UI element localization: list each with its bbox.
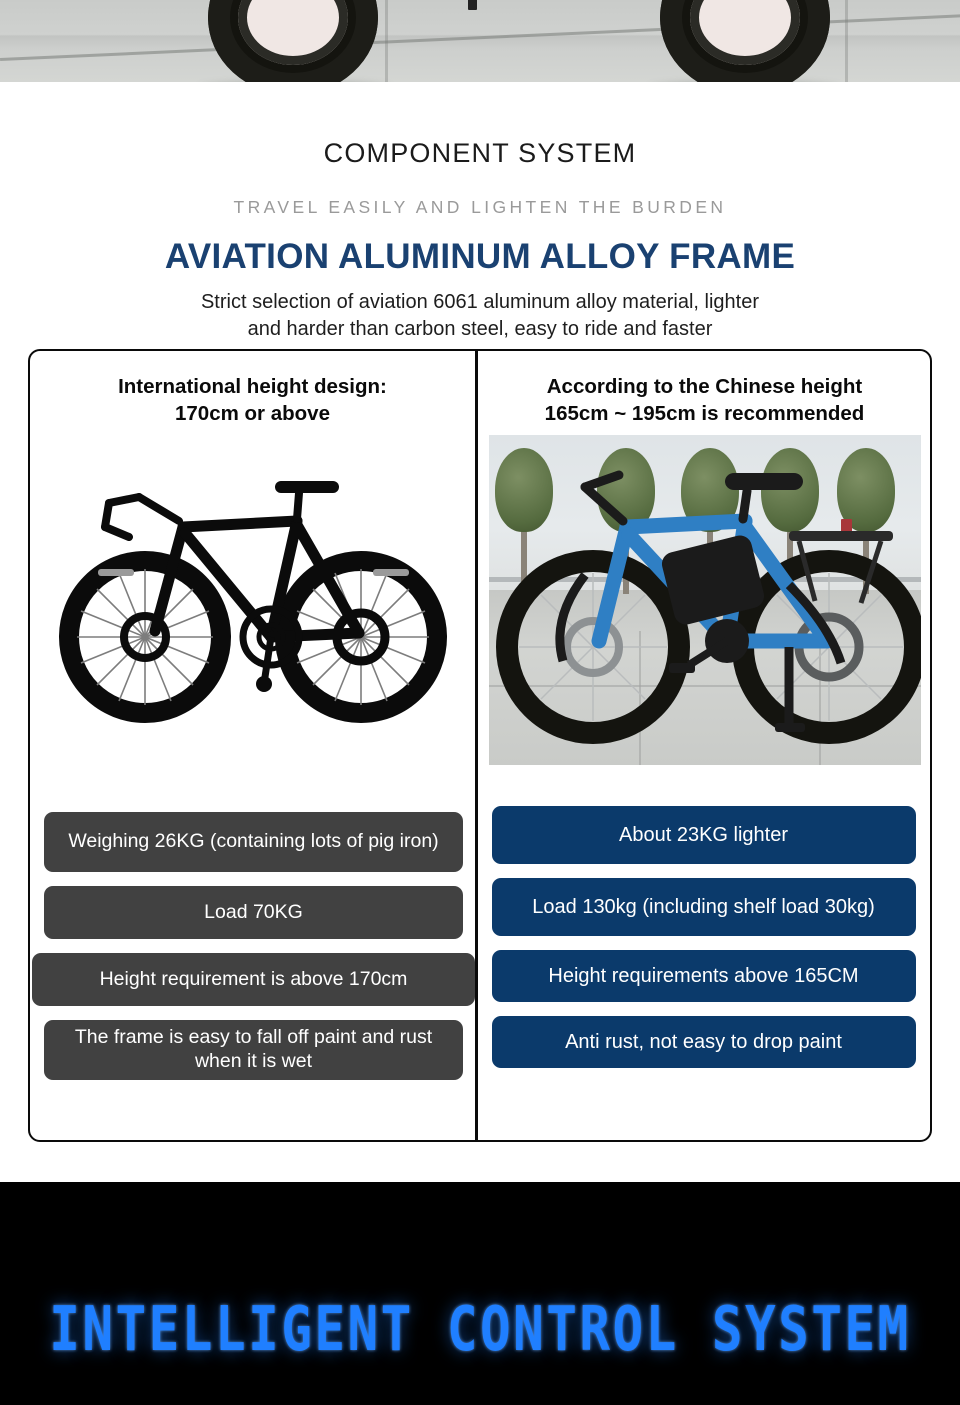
section-kicker: COMPONENT SYSTEM <box>0 138 960 169</box>
comparison-panel: International height design: 170cm or ab… <box>28 349 932 1142</box>
bicycle-tire-left <box>208 0 378 82</box>
spec-bar: About 23KG lighter <box>492 806 916 864</box>
lead-line-2: and harder than carbon steel, easy to ri… <box>248 318 713 340</box>
left-spec-bar-list: Weighing 26KG (containing lots of pig ir… <box>30 812 475 1094</box>
kickstand-icon <box>468 0 477 10</box>
spec-bar: Height requirements above 165CM <box>492 950 916 1002</box>
section-sub-kicker: TRAVEL EASILY AND LIGHTEN THE BURDEN <box>0 197 960 218</box>
spec-bar: Weighing 26KG (containing lots of pig ir… <box>44 812 463 872</box>
pavement-joint-line <box>385 0 388 82</box>
right-spec-bar-list: About 23KG lighter Load 130kg (including… <box>478 806 932 1082</box>
bottom-banner: INTELLIGENT CONTROL SYSTEM <box>0 1182 960 1405</box>
left-heading-line-2: 170cm or above <box>175 402 330 425</box>
spec-bar: Height requirement is above 170cm <box>32 953 475 1006</box>
comparison-column-right: According to the Chinese height 165cm ~ … <box>478 351 932 1140</box>
left-column-heading: International height design: 170cm or ab… <box>30 351 475 427</box>
page-title: AVIATION ALUMINUM ALLOY FRAME <box>0 237 960 277</box>
black-road-bike-silhouette-icon <box>43 441 463 741</box>
right-bike-photo <box>489 435 921 765</box>
left-bike-image <box>43 441 463 741</box>
right-column-heading: According to the Chinese height 165cm ~ … <box>478 351 932 427</box>
left-heading-line-1: International height design: <box>118 375 387 398</box>
spec-bar: Anti rust, not easy to drop paint <box>492 1016 916 1068</box>
pavement-joint-line <box>845 0 848 82</box>
spec-bar: Load 70KG <box>44 886 463 939</box>
right-heading-line-2: 165cm ~ 195cm is recommended <box>545 402 865 425</box>
spec-bar: The frame is easy to fall off paint and … <box>44 1020 463 1080</box>
lead-line-1: Strict selection of aviation 6061 alumin… <box>201 291 759 313</box>
comparison-column-left: International height design: 170cm or ab… <box>30 351 475 1140</box>
spec-bar: Load 130kg (including shelf load 30kg) <box>492 878 916 936</box>
lead-paragraph: Strict selection of aviation 6061 alumin… <box>0 289 960 342</box>
header-block: COMPONENT SYSTEM TRAVEL EASILY AND LIGHT… <box>0 82 960 342</box>
blue-electric-bike-illustration <box>489 435 921 765</box>
right-heading-line-1: According to the Chinese height <box>547 375 863 398</box>
top-tire-photo-strip <box>0 0 960 82</box>
banner-title: INTELLIGENT CONTROL SYSTEM <box>10 1295 951 1366</box>
bicycle-tire-right <box>660 0 830 82</box>
